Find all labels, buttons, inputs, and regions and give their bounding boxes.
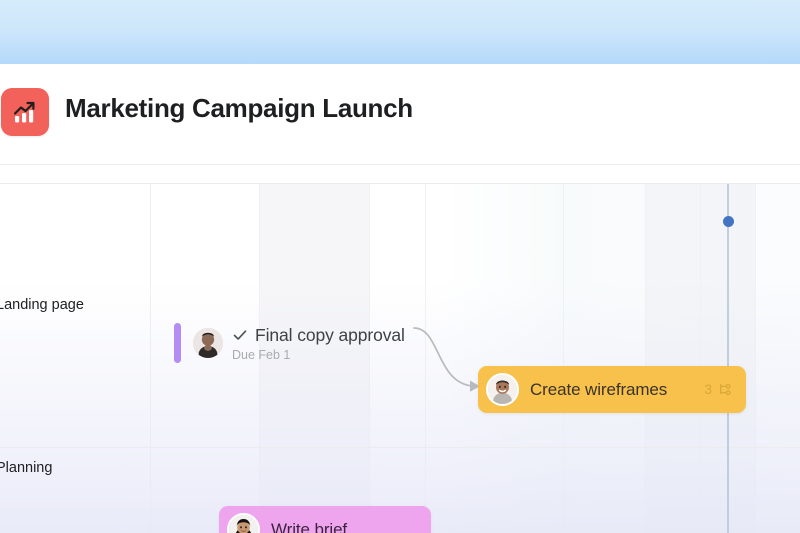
timeline-grid: Landing page Planning: [0, 184, 800, 533]
project-window: Marketing Campaign Launch February 12345…: [0, 64, 800, 533]
avatar-write-brief[interactable]: [227, 513, 260, 533]
subtask-meta: 3: [704, 382, 732, 397]
today-line: [727, 184, 729, 533]
row-divider: [0, 447, 800, 448]
row-label-landing-page[interactable]: Landing page: [0, 297, 84, 313]
page-title: Marketing Campaign Launch: [65, 93, 413, 124]
task-title: Final copy approval: [255, 325, 405, 346]
task-title: Create wireframes: [530, 380, 667, 400]
grid-line-5: [645, 184, 646, 533]
task-text-block: Final copy approval Due Feb 1: [232, 325, 405, 362]
today-marker-dot: [723, 216, 734, 227]
timeline-app: Marketing Campaign Launch February 12345…: [0, 0, 800, 533]
row-label-planning[interactable]: Planning: [0, 460, 52, 476]
grid-line-3: [425, 184, 426, 533]
subtask-count: 3: [704, 382, 712, 397]
subtask-branch-icon: [717, 382, 732, 397]
task-due-date: Due Feb 1: [232, 348, 405, 362]
task-accent-bar: [174, 323, 181, 363]
task-title: Write brief: [271, 520, 347, 533]
lane-separator: [150, 184, 151, 533]
check-icon: [232, 327, 248, 343]
task-card-write-brief[interactable]: Write brief: [219, 506, 431, 533]
grid-line-4: [563, 184, 564, 533]
decorative-top-band: [0, 0, 800, 64]
grid-line-7: [755, 184, 756, 533]
chart-growth-icon: [1, 88, 49, 136]
task-card-create-wireframes[interactable]: Create wireframes 3: [478, 366, 746, 413]
avatar-final-copy-approval[interactable]: [193, 328, 223, 358]
task-final-copy-approval[interactable]: Final copy approval Due Feb 1: [174, 319, 405, 367]
avatar-create-wireframes[interactable]: [486, 373, 519, 406]
grid-line-6: [700, 184, 701, 533]
project-header: Marketing Campaign Launch: [0, 64, 800, 164]
